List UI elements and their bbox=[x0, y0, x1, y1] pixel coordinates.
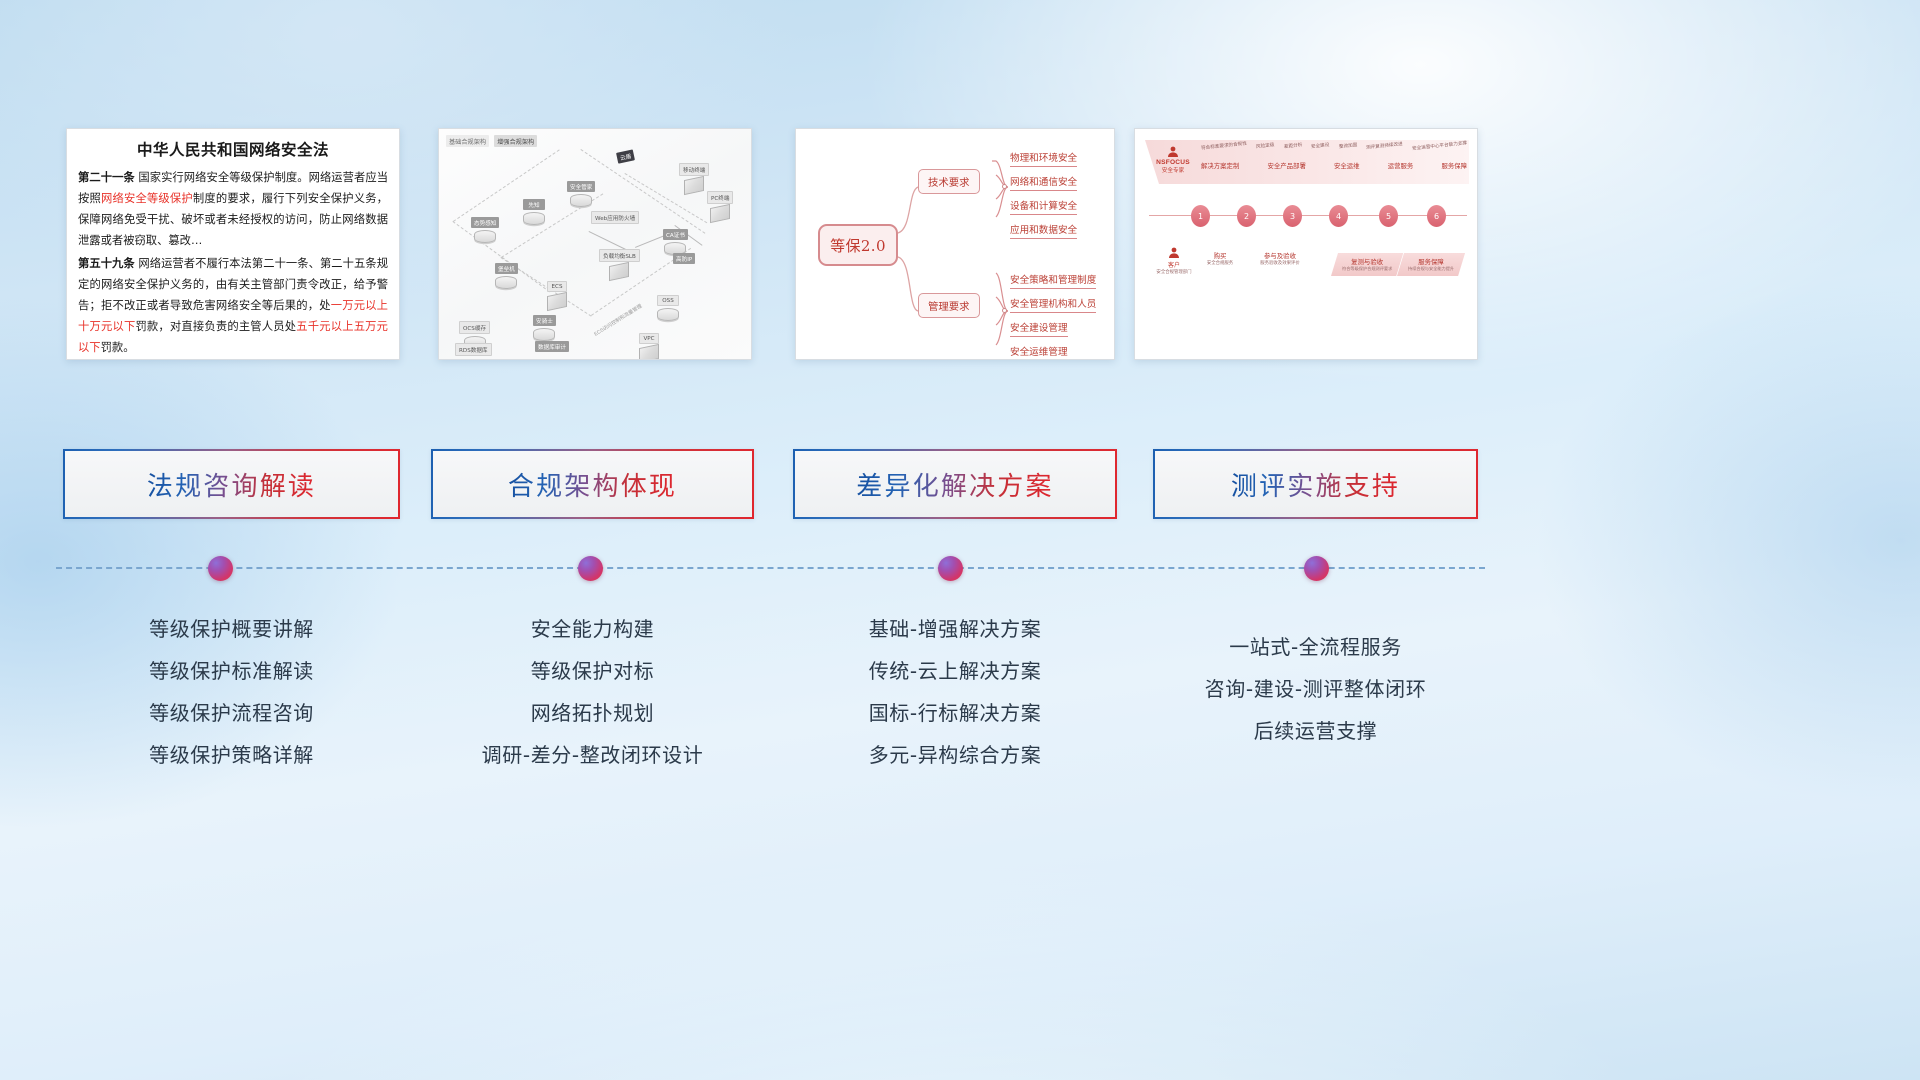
arch-node-shape bbox=[710, 203, 730, 222]
arch-node-label: 高防IP bbox=[673, 253, 695, 264]
section-items-3: 基础-增强解决方案 传统-云上解决方案 国标-行标解决方案 多元-异构综合方案 bbox=[793, 608, 1117, 776]
mindmap-branch-dot bbox=[1002, 308, 1007, 313]
arch-node-shape bbox=[523, 212, 545, 225]
section-title-label: 法规咨询解读 bbox=[147, 466, 316, 503]
arch-node-label: 云盾 bbox=[616, 149, 635, 163]
nsfocus-service: 运营服务 bbox=[1388, 161, 1414, 170]
card-mindmap-dengbao[interactable]: 等保2.0 技术要求 物理和环境安全 网络和通信安全 设备和计算安全 应用和数据… bbox=[795, 128, 1115, 360]
card-nsfocus-service-flow[interactable]: NSFOCUS 安全专家 符合标准要求的合规性 风险定级 差距分析 安全建设 整… bbox=[1134, 128, 1478, 360]
architecture-tabs: 基础合规架构 增强合规架构 bbox=[446, 135, 537, 147]
arch-node-ecs: ECS bbox=[547, 281, 567, 309]
arch-node-situational-awareness: 态势感知 bbox=[471, 217, 499, 243]
nsfocus-top-label: 整改加固 bbox=[1338, 142, 1357, 150]
list-item: 多元-异构综合方案 bbox=[793, 734, 1117, 776]
list-item: 基础-增强解决方案 bbox=[793, 608, 1117, 650]
list-item: 等级保护流程咨询 bbox=[63, 692, 400, 734]
arch-node-shape bbox=[657, 308, 679, 321]
section-title-box-1[interactable]: 法规咨询解读 bbox=[63, 449, 400, 519]
list-item: 调研-差分-整改闭环设计 bbox=[431, 734, 754, 776]
arch-node-shape bbox=[570, 194, 592, 207]
customer-icon bbox=[1167, 247, 1181, 259]
law-article-21: 第二十一条 国家实行网络安全等级保护制度。网络运营者应当按照网络安全等级保护制度… bbox=[78, 167, 388, 251]
arch-node-label: 数据库审计 bbox=[535, 341, 569, 352]
reference-cards-row: 中华人民共和国网络安全法 第二十一条 国家实行网络安全等级保护制度。网络运营者应… bbox=[0, 128, 1920, 360]
arch-node-label: 堡垒机 bbox=[495, 263, 518, 274]
nsfocus-top-label: 差距分析 bbox=[1283, 142, 1302, 150]
tab-basic-architecture[interactable]: 基础合规架构 bbox=[446, 135, 489, 147]
law-article-59: 第五十九条 网络运营者不履行本法第二十一条、第二十五条规定的网络安全保护义务的，… bbox=[78, 253, 388, 358]
arch-node-label: CA证书 bbox=[663, 229, 688, 240]
section-items-1: 等级保护概要讲解 等级保护标准解读 等级保护流程咨询 等级保护策略详解 bbox=[63, 608, 400, 776]
nsfocus-action-sub: 服务验收及效果评价 bbox=[1247, 260, 1313, 266]
article-59-label: 第五十九条 bbox=[78, 257, 135, 270]
list-item: 网络拓扑规划 bbox=[431, 692, 754, 734]
card-compliance-architecture[interactable]: 基础合规架构 增强合规架构 云盾 安全管家 先知 bbox=[438, 128, 752, 360]
mindmap-branch-management[interactable]: 管理要求 bbox=[918, 293, 980, 318]
article-21-highlight: 网络安全等级保护 bbox=[101, 192, 193, 205]
nsfocus-tag: 服务保障 持续合规与安全能力提升 bbox=[1397, 253, 1465, 276]
nsfocus-brand: NSFOCUS bbox=[1151, 159, 1195, 166]
nsfocus-action: 购买 安全合规服务 bbox=[1199, 251, 1241, 266]
nsfocus-timeline: NSFOCUS 安全专家 符合标准要求的合规性 风险定级 差距分析 安全建设 整… bbox=[1135, 129, 1477, 359]
list-item: 国标-行标解决方案 bbox=[793, 692, 1117, 734]
nsfocus-tag-sub: 符合等级保护合规测评要求 bbox=[1342, 266, 1392, 272]
nsfocus-tag: 复测与验收 符合等级保护合规测评要求 bbox=[1331, 253, 1403, 276]
arch-node-label: 负载均衡SLB bbox=[599, 249, 640, 262]
nsfocus-step: 1 bbox=[1191, 205, 1210, 227]
law-document: 中华人民共和国网络安全法 第二十一条 国家实行网络安全等级保护制度。网络运营者应… bbox=[67, 129, 399, 360]
arch-node-shape bbox=[533, 328, 555, 341]
nsfocus-service: 服务保障 bbox=[1441, 161, 1467, 170]
arch-node-label: 移动终端 bbox=[679, 163, 709, 176]
card-cybersecurity-law[interactable]: 中华人民共和国网络安全法 第二十一条 国家实行网络安全等级保护制度。网络运营者应… bbox=[66, 128, 400, 360]
nsfocus-tag-title: 服务保障 bbox=[1408, 257, 1454, 266]
tab-enhanced-architecture[interactable]: 增强合规架构 bbox=[494, 135, 537, 147]
nsfocus-persona-sub: 安全合规管理部门 bbox=[1151, 269, 1197, 275]
mindmap-root: 等保2.0 bbox=[818, 224, 898, 266]
section-titles-row: 法规咨询解读 合规架构体现 差异化解决方案 测评实施支持 bbox=[0, 449, 1920, 519]
nsfocus-service: 安全产品部署 bbox=[1268, 161, 1306, 170]
arch-node-shape bbox=[684, 175, 704, 194]
arch-node-slb: 负载均衡SLB bbox=[599, 249, 640, 279]
nsfocus-step: 5 bbox=[1379, 205, 1398, 227]
section-title-box-4[interactable]: 测评实施支持 bbox=[1153, 449, 1478, 519]
arch-node-security-butler: 安全管家 bbox=[567, 181, 595, 207]
list-item: 等级保护概要讲解 bbox=[63, 608, 400, 650]
arch-node-label: VPC bbox=[639, 333, 659, 344]
section-items-2: 安全能力构建 等级保护对标 网络拓扑规划 调研-差分-整改闭环设计 bbox=[431, 608, 754, 776]
nsfocus-step: 4 bbox=[1329, 205, 1348, 227]
arch-node-mobile-terminal: 移动终端 bbox=[679, 163, 709, 193]
section-title-box-2[interactable]: 合规架构体现 bbox=[431, 449, 754, 519]
nsfocus-tag-sub: 持续合规与安全能力提升 bbox=[1408, 266, 1454, 272]
section-title-label: 差异化解决方案 bbox=[856, 466, 1053, 503]
arch-node-label: 安全管家 bbox=[567, 181, 595, 192]
arch-node-anqishi: 安骑士 bbox=[533, 315, 556, 341]
mindmap-branch-dot bbox=[1002, 184, 1007, 189]
arch-node-bastion-host: 堡垒机 bbox=[495, 263, 518, 289]
arch-node-label: ECS bbox=[547, 281, 567, 292]
nsfocus-action: 参与及验收 服务验收及效果评价 bbox=[1247, 251, 1313, 266]
arch-node-shape bbox=[474, 230, 496, 243]
arch-node-label: OCS缓存 bbox=[459, 321, 490, 334]
arch-node-cloudshield: 云盾 bbox=[616, 149, 635, 163]
nsfocus-logo: NSFOCUS 安全专家 bbox=[1151, 146, 1195, 174]
mindmap-leaf: 设备和计算安全 bbox=[1010, 198, 1077, 215]
list-item: 咨询-建设-测评整体闭环 bbox=[1153, 668, 1478, 710]
nsfocus-action-title: 购买 bbox=[1199, 251, 1241, 260]
arch-node-label: Web应用防火墙 bbox=[591, 211, 639, 224]
list-item: 安全能力构建 bbox=[431, 608, 754, 650]
list-item: 一站式-全流程服务 bbox=[1153, 626, 1478, 668]
mindmap: 等保2.0 技术要求 物理和环境安全 网络和通信安全 设备和计算安全 应用和数据… bbox=[796, 129, 1114, 359]
arch-node-shape bbox=[495, 276, 517, 289]
list-item: 等级保护策略详解 bbox=[63, 734, 400, 776]
architecture-diagram: 基础合规架构 增强合规架构 云盾 安全管家 先知 bbox=[439, 129, 751, 359]
arch-node-ca-certificate: CA证书 bbox=[663, 229, 688, 255]
mindmap-leaf: 物理和环境安全 bbox=[1010, 150, 1077, 167]
article-59-text-2: 罚款，对直接负责的主管人员处 bbox=[135, 320, 296, 333]
nsfocus-service: 解决方案定制 bbox=[1201, 161, 1239, 170]
person-icon bbox=[1166, 146, 1180, 158]
arch-edge-label-access-control: ECS访问控制和流量管理 bbox=[588, 296, 644, 341]
nsfocus-brand-sub: 安全专家 bbox=[1151, 166, 1195, 174]
list-item: 传统-云上解决方案 bbox=[793, 650, 1117, 692]
list-item: 等级保护对标 bbox=[431, 650, 754, 692]
nsfocus-service: 安全运维 bbox=[1334, 161, 1360, 170]
mindmap-leaf: 安全策略和管理制度 bbox=[1010, 272, 1096, 289]
mindmap-branch-technical[interactable]: 技术要求 bbox=[918, 169, 980, 194]
nsfocus-tag-title: 复测与验收 bbox=[1342, 257, 1392, 266]
nsfocus-step: 6 bbox=[1427, 205, 1446, 227]
timeline-dashed-line bbox=[56, 567, 1485, 569]
section-items-4: 一站式-全流程服务 咨询-建设-测评整体闭环 后续运营支撑 bbox=[1153, 626, 1478, 752]
arch-node-anti-ddos-ip: 高防IP bbox=[673, 253, 695, 264]
timeline-node-1[interactable] bbox=[208, 556, 233, 581]
law-title: 中华人民共和国网络安全法 bbox=[78, 138, 388, 160]
section-title-label: 合规架构体现 bbox=[508, 466, 677, 503]
mindmap-leaf: 网络和通信安全 bbox=[1010, 174, 1077, 191]
list-item: 后续运营支撑 bbox=[1153, 710, 1478, 752]
arch-node-label: 先知 bbox=[523, 199, 545, 210]
arch-node-pc-terminal: PC终端 bbox=[707, 191, 733, 221]
nsfocus-top-labels: 符合标准要求的合规性 风险定级 差距分析 安全建设 整改加固 测评复测持续改进 … bbox=[1201, 143, 1467, 149]
mindmap-leaf: 安全管理机构和人员 bbox=[1010, 296, 1096, 313]
nsfocus-step: 3 bbox=[1283, 205, 1302, 227]
nsfocus-top-label: 风险定级 bbox=[1256, 142, 1275, 150]
mindmap-leaf: 安全建设管理 bbox=[1010, 320, 1068, 337]
nsfocus-action-sub: 安全合规服务 bbox=[1199, 260, 1241, 266]
nsfocus-service-labels: 解决方案定制 安全产品部署 安全运维 运营服务 服务保障 bbox=[1201, 161, 1467, 170]
nsfocus-persona-title: 客户 bbox=[1151, 260, 1197, 269]
mindmap-leaf: 安全运维管理 bbox=[1010, 344, 1068, 360]
article-21-label: 第二十一条 bbox=[78, 171, 135, 184]
arch-node-oss: OSS bbox=[657, 295, 679, 321]
arch-node-label: 安骑士 bbox=[533, 315, 556, 326]
timeline-node-3[interactable] bbox=[938, 556, 963, 581]
arch-node-label: 态势感知 bbox=[471, 217, 499, 228]
article-59-text-3: 罚款。 bbox=[101, 341, 135, 354]
nsfocus-top-label: 安全建设 bbox=[1311, 142, 1330, 150]
arch-node-label: OSS bbox=[657, 295, 679, 306]
arch-node-shape bbox=[639, 343, 659, 360]
arch-node-vpc: VPC bbox=[639, 333, 659, 360]
timeline-node-4[interactable] bbox=[1304, 556, 1329, 581]
arch-node-shape bbox=[547, 291, 567, 310]
section-title-label: 测评实施支持 bbox=[1231, 466, 1400, 503]
arch-node-database-audit: 数据库审计 bbox=[535, 341, 569, 352]
arch-node-label: RDS数据库 bbox=[455, 343, 492, 356]
section-title-box-3[interactable]: 差异化解决方案 bbox=[793, 449, 1117, 519]
arch-node-waf: Web应用防火墙 bbox=[591, 211, 639, 224]
nsfocus-action-title: 参与及验收 bbox=[1247, 251, 1313, 260]
list-item: 等级保护标准解读 bbox=[63, 650, 400, 692]
arch-node-xianzhi: 先知 bbox=[523, 199, 545, 225]
timeline-node-2[interactable] bbox=[578, 556, 603, 581]
nsfocus-persona: 客户 安全合规管理部门 bbox=[1151, 247, 1197, 275]
arch-node-rds-database: RDS数据库 bbox=[455, 343, 492, 356]
arch-node-shape bbox=[609, 261, 629, 280]
arch-node-label: PC终端 bbox=[707, 191, 733, 204]
mindmap-leaf: 应用和数据安全 bbox=[1010, 222, 1077, 239]
nsfocus-step: 2 bbox=[1237, 205, 1256, 227]
